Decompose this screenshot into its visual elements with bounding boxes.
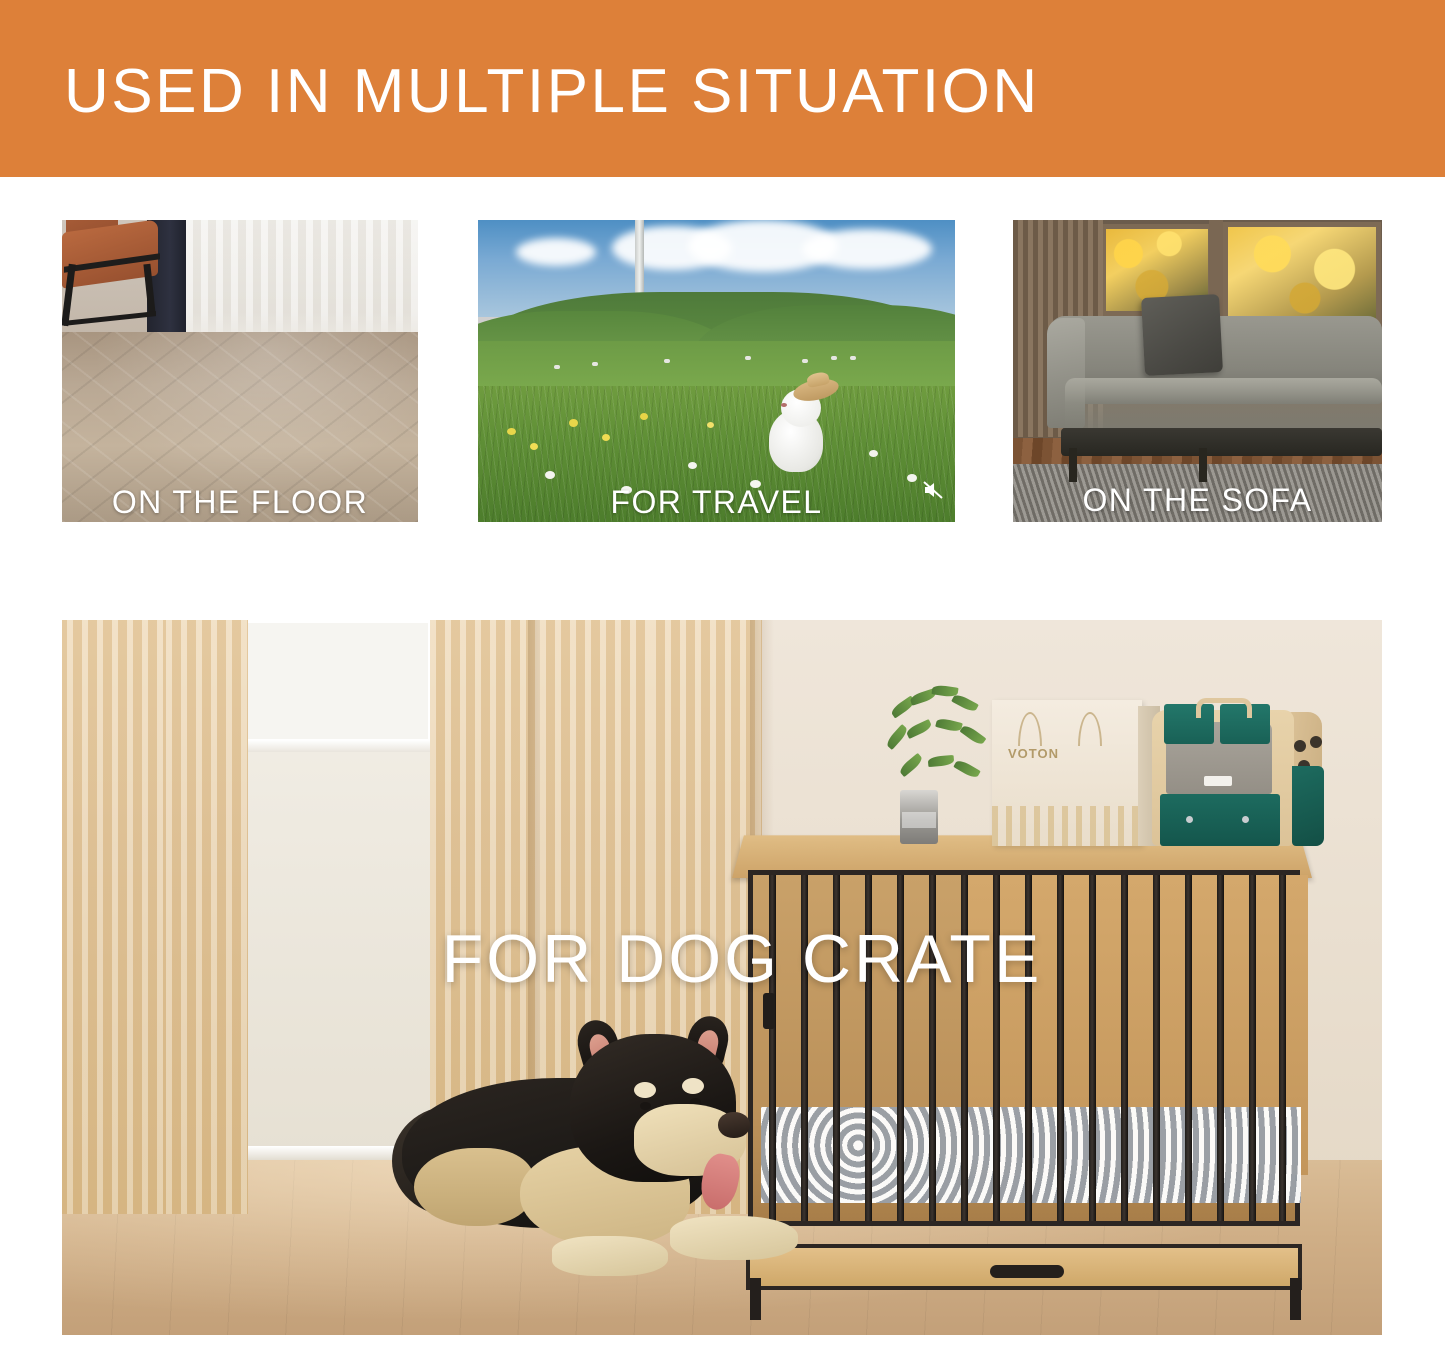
thumbnail-caption-sofa: ON THE SOFA	[1013, 482, 1382, 519]
crate-drawer-handle	[990, 1265, 1064, 1278]
thumbnail-caption-floor: ON THE FLOOR	[62, 484, 418, 521]
thumbnail-on-the-sofa[interactable]: ON THE SOFA	[1013, 220, 1382, 522]
thumbnail-for-travel[interactable]: FOR TRAVEL	[478, 220, 955, 522]
floor-scene-illustration	[62, 220, 418, 522]
sofa-scene-illustration	[1013, 220, 1382, 522]
hero-caption: FOR DOG CRATE	[62, 920, 1382, 998]
malamute-dog	[402, 1020, 832, 1320]
potted-plant	[880, 686, 1000, 796]
thumbnail-caption-travel: FOR TRAVEL	[478, 484, 955, 521]
hero-image-for-dog-crate[interactable]: VOTON	[62, 620, 1382, 1335]
page-title: USED IN MULTIPLE SITUATION	[64, 56, 1040, 128]
header-banner: USED IN MULTIPLE SITUATION	[0, 0, 1445, 177]
thumbnail-on-the-floor[interactable]: ON THE FLOOR	[62, 220, 418, 522]
pet-carrier-backpack	[1152, 698, 1320, 848]
travel-scene-illustration	[478, 220, 955, 522]
gift-bag-logo: VOTON	[1008, 746, 1059, 761]
